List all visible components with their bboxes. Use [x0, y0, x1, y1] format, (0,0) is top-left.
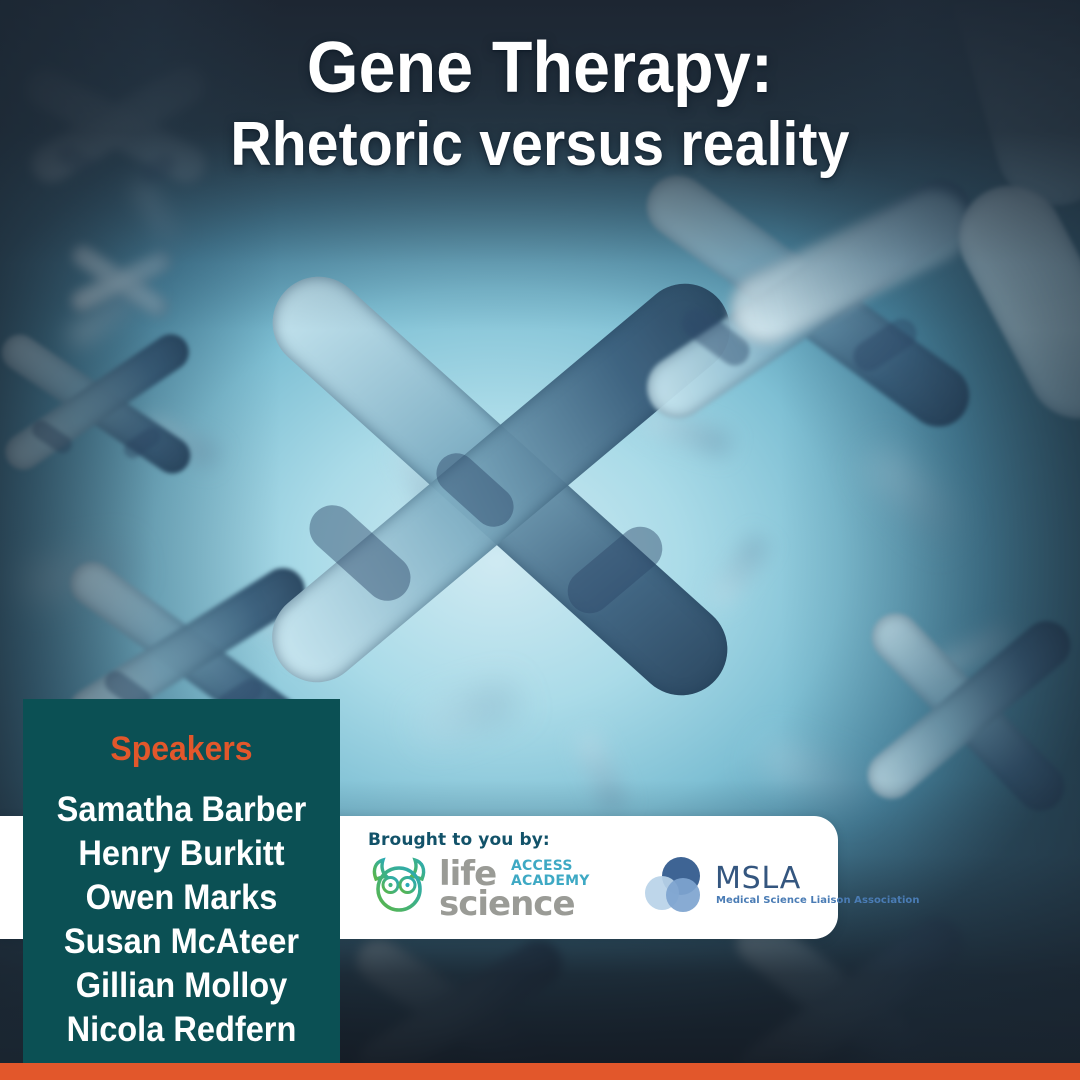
sponsor-logo-row: life ACCESS ACADEMY science	[368, 856, 901, 919]
promotional-poster: Gene Therapy: Rhetoric versus reality Br…	[0, 0, 1080, 1080]
lsaa-word-access: ACCESS	[511, 859, 573, 874]
title-line-secondary: Rhetoric versus reality	[43, 108, 1037, 182]
brought-to-you-by-label: Brought to you by:	[368, 830, 550, 850]
msla-acronym: MSLA	[715, 863, 801, 895]
footer-accent-bar	[0, 1063, 1080, 1080]
life-science-access-academy-logo[interactable]: life ACCESS ACADEMY science	[368, 857, 609, 918]
speaker-name: Henry Burkitt	[34, 832, 329, 876]
msla-logo[interactable]: MSLA Medical Science Liaison Association	[645, 856, 901, 919]
speaker-name: Susan McAteer	[34, 920, 329, 964]
speaker-name: Owen Marks	[34, 876, 329, 920]
three-circles-icon	[645, 856, 707, 919]
msla-wordmark: MSLA Medical Science Liaison Association	[715, 863, 901, 913]
speaker-name: Samatha Barber	[34, 788, 329, 832]
speaker-name: Nicola Redfern	[34, 1008, 329, 1052]
speaker-list: Samatha Barber Henry Burkitt Owen Marks …	[23, 788, 340, 1052]
speakers-panel: Speakers Samatha Barber Henry Burkitt Ow…	[23, 699, 340, 1063]
msla-tagline: Medical Science Liaison Association	[716, 895, 920, 907]
speakers-heading: Speakers	[33, 730, 331, 768]
lsaa-word-science: science	[439, 887, 575, 921]
owl-icon	[368, 857, 430, 918]
title-line-primary: Gene Therapy:	[43, 28, 1037, 108]
poster-title: Gene Therapy: Rhetoric versus reality	[0, 28, 1080, 182]
speaker-name: Gillian Molloy	[34, 964, 329, 1008]
lsaa-wordmark: life ACCESS ACADEMY science	[439, 859, 609, 917]
